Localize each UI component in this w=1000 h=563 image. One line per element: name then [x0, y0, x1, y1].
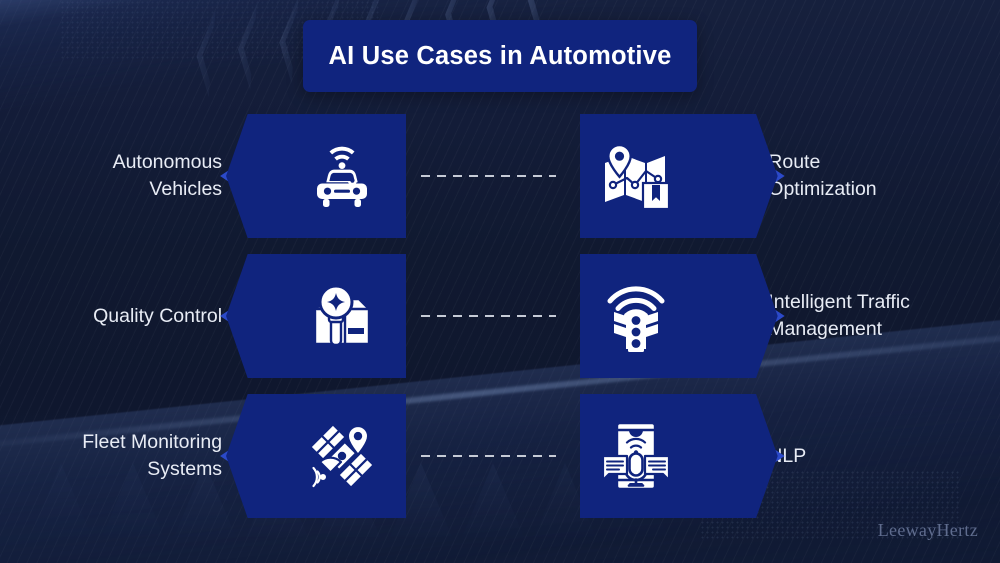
node-intelligent-traffic-management[interactable]	[580, 246, 759, 386]
title-card: AI Use Cases in Automotive	[303, 20, 697, 92]
label-quality-control: Quality Control	[0, 303, 232, 330]
label-nlp: NLP	[758, 443, 1000, 470]
node-route-optimization[interactable]	[580, 106, 759, 246]
magnifier-box-inspection-icon	[307, 281, 377, 351]
icon-tile-autonomous-vehicles[interactable]	[286, 114, 398, 238]
row-quality-traffic: Quality Control	[0, 246, 1000, 386]
row-fleet-nlp: Fleet MonitoringSystems	[0, 386, 1000, 526]
icon-tile-route-optimization[interactable]	[580, 114, 692, 238]
autonomous-car-wifi-icon	[309, 141, 375, 211]
watermark-logo: LeewayHertz	[878, 520, 978, 541]
label-autonomous-vehicles: AutonomousVehicles	[0, 149, 232, 203]
label-route-optimization: RouteOptimization	[758, 149, 1000, 203]
icon-tile-quality-control[interactable]	[286, 254, 398, 378]
label-fleet-monitoring-systems: Fleet MonitoringSystems	[0, 429, 232, 483]
connector-dashed-row-2	[421, 315, 556, 317]
map-route-pin-bookmark-icon	[601, 141, 671, 211]
connector-dashed-row-3	[421, 455, 556, 457]
row-autonomous-route: AutonomousVehicles	[0, 106, 1000, 246]
page-title: AI Use Cases in Automotive	[329, 42, 672, 71]
node-quality-control[interactable]	[240, 246, 419, 386]
node-nlp[interactable]	[580, 386, 759, 526]
node-autonomous-vehicles[interactable]	[240, 106, 419, 246]
connector-dashed-row-1	[421, 175, 556, 177]
icon-tile-intelligent-traffic[interactable]	[580, 254, 692, 378]
icon-tile-nlp[interactable]	[580, 394, 692, 518]
node-fleet-monitoring-systems[interactable]	[240, 386, 419, 526]
satellite-location-pin-icon	[306, 420, 378, 492]
traffic-light-signal-icon	[604, 280, 668, 352]
phone-microphone-chat-icon	[600, 420, 672, 492]
icon-tile-fleet-monitoring[interactable]	[286, 394, 398, 518]
label-intelligent-traffic-management: Intelligent TrafficManagement	[758, 289, 1000, 343]
